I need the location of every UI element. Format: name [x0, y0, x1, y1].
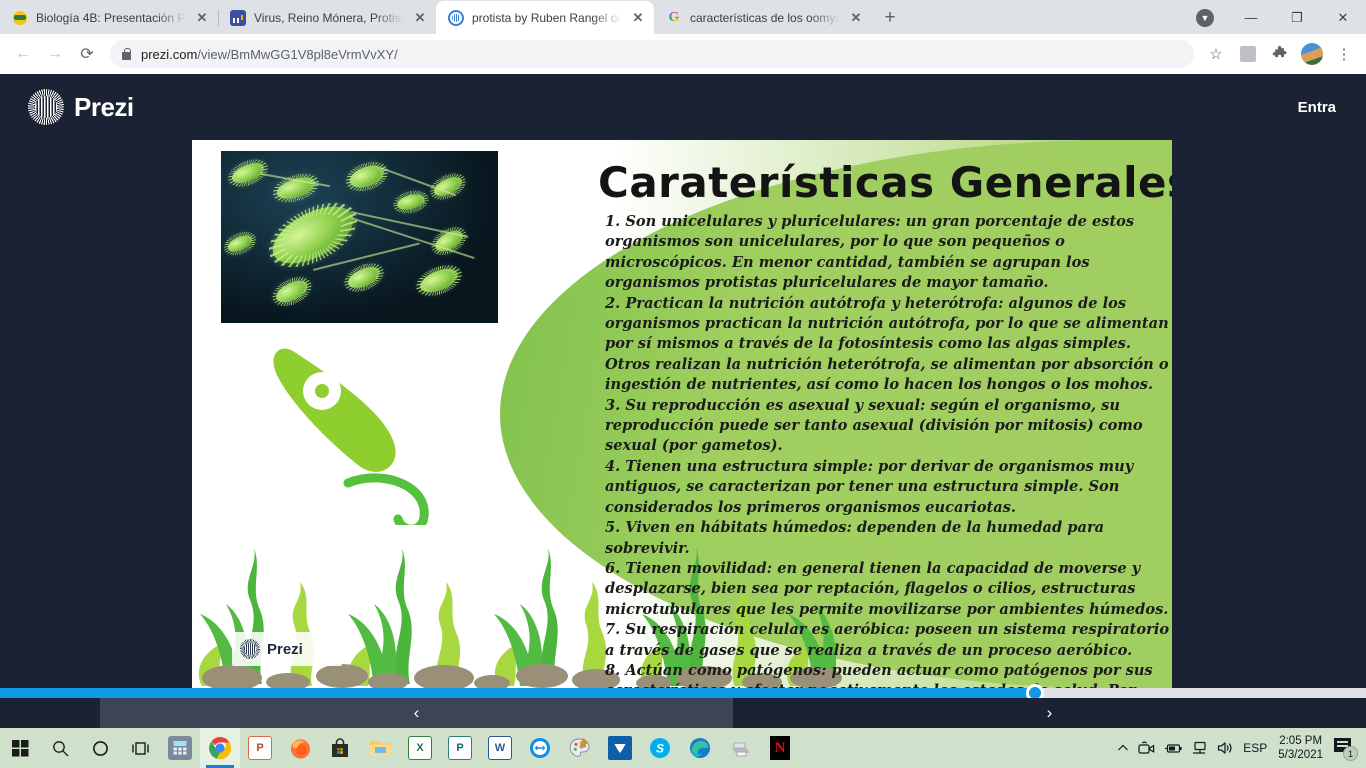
download-indicator-icon[interactable]: ▼	[1182, 1, 1228, 34]
bluebird-app-icon[interactable]	[600, 728, 640, 768]
word-icon[interactable]: W	[480, 728, 520, 768]
forward-button[interactable]: →	[40, 39, 70, 69]
task-view-icon[interactable]	[120, 728, 160, 768]
publisher-icon[interactable]: P	[440, 728, 480, 768]
meet-now-icon[interactable]	[1138, 741, 1155, 756]
slide-paragraph: 1. Son unicelulares y pluricelulares: un…	[605, 212, 1172, 294]
url-domain: prezi.com	[141, 47, 197, 62]
prezi-watermark-text: Prezi	[267, 641, 303, 658]
browser-tab-strip: Biología 4B: Presentación Prezi ✕ Virus,…	[0, 0, 1366, 34]
calculator-icon[interactable]	[160, 728, 200, 768]
toolbar-actions: ☆ ⋮	[1202, 40, 1358, 68]
slide-body-text: 1. Son unicelulares y pluricelulares: un…	[605, 212, 1172, 688]
svg-text:S: S	[656, 742, 664, 756]
presentation-progress-bar[interactable]	[0, 688, 1366, 698]
browser-tab-3[interactable]: G características de los oomycetes ✕	[654, 1, 872, 34]
presentation-stage[interactable]: Prezi Caraterísticas Generales 1. Son un…	[0, 140, 1366, 688]
printer-icon[interactable]	[720, 728, 760, 768]
bars-icon	[230, 10, 246, 26]
tab-title: Virus, Reino Mónera, Protista y Fu	[254, 11, 404, 25]
microsoft-store-icon[interactable]	[320, 728, 360, 768]
slide-canvas: Prezi Caraterísticas Generales 1. Son un…	[192, 140, 1172, 688]
windows-taskbar: P X P W S	[0, 728, 1366, 768]
maximize-button[interactable]: ❐	[1274, 1, 1320, 34]
window-controls: ▼ — ❐ ✕	[1182, 1, 1366, 34]
reload-button[interactable]: ⟳	[72, 39, 102, 69]
prezi-site-header: Prezi Entra	[0, 74, 1366, 140]
powerpoint-icon[interactable]: P	[240, 728, 280, 768]
firefox-icon[interactable]	[280, 728, 320, 768]
bio-icon	[12, 10, 28, 26]
slide-paragraph: 4. Tienen una estructura simple: por der…	[605, 457, 1172, 518]
notifications-icon[interactable]: 1	[1332, 735, 1358, 761]
tab-title: Biología 4B: Presentación Prezi	[36, 11, 186, 25]
volume-icon[interactable]	[1217, 741, 1234, 755]
url-path: /view/BmMwGG1V8pl8eVrmVvXY/	[197, 47, 397, 62]
slide-paragraph: 8. Actúan como patógenos: pueden actuar …	[605, 661, 1172, 688]
battery-icon[interactable]	[1164, 742, 1182, 755]
browser-tab-2[interactable]: protista by Ruben Rangel on Prez ✕	[436, 1, 654, 34]
clock-time: 2:05 PM	[1278, 734, 1323, 748]
slide-title: Caraterísticas Generales	[598, 158, 1172, 207]
cortana-icon[interactable]	[80, 728, 120, 768]
slide-paragraph: 6. Tienen movilidad: en general tienen l…	[605, 559, 1172, 620]
bookmark-star-icon[interactable]: ☆	[1202, 40, 1230, 68]
chrome-menu-icon[interactable]: ⋮	[1330, 40, 1358, 68]
prezi-brand-text: Prezi	[74, 92, 134, 123]
browser-toolbar: ← → ⟳ prezi.com/view/BmMwGG1V8pl8eVrmVvX…	[0, 34, 1366, 74]
slide-paragraph: 2. Practican la nutrición autótrofa y he…	[605, 294, 1172, 396]
progress-fill	[0, 688, 1035, 698]
chrome-icon[interactable]	[200, 728, 240, 768]
browser-tab-0[interactable]: Biología 4B: Presentación Prezi ✕	[0, 1, 218, 34]
start-button[interactable]	[0, 728, 40, 768]
tab-close-icon[interactable]: ✕	[848, 10, 864, 26]
prezi-icon	[448, 10, 464, 26]
slide-paragraph: 5. Viven en hábitats húmedos: dependen d…	[605, 518, 1172, 559]
system-tray: ESP 2:05 PM 5/3/2021 1	[1117, 734, 1366, 762]
presentation-nav-bar: ‹ ›	[0, 698, 1366, 728]
slide-paragraph: 7. Su respiración celular es aeróbica: p…	[605, 620, 1172, 661]
file-explorer-icon[interactable]	[360, 728, 400, 768]
tab-close-icon[interactable]: ✕	[412, 10, 428, 26]
clock-date: 5/3/2021	[1278, 748, 1323, 762]
skype-icon[interactable]: S	[640, 728, 680, 768]
euglena-illustration	[252, 335, 472, 525]
paint-icon[interactable]	[560, 728, 600, 768]
network-icon[interactable]	[1191, 741, 1208, 755]
lock-icon	[122, 52, 131, 60]
close-window-button[interactable]: ✕	[1320, 1, 1366, 34]
edge-icon[interactable]	[680, 728, 720, 768]
netflix-icon[interactable]: N	[760, 728, 800, 768]
back-button[interactable]: ←	[8, 39, 38, 69]
prezi-watermark-icon	[240, 639, 260, 659]
address-bar[interactable]: prezi.com/view/BmMwGG1V8pl8eVrmVvXY/	[110, 40, 1194, 68]
slide-paragraph: 3. Su reproducción es asexual y sexual: …	[605, 396, 1172, 457]
tab-close-icon[interactable]: ✕	[630, 10, 646, 26]
next-slide-button[interactable]: ›	[733, 698, 1366, 728]
clock[interactable]: 2:05 PM 5/3/2021	[1278, 734, 1323, 762]
notification-count-badge: 1	[1343, 746, 1358, 761]
prezi-logo-icon	[28, 89, 64, 125]
excel-icon[interactable]: X	[400, 728, 440, 768]
bacteria-photo	[221, 151, 498, 323]
prezi-watermark[interactable]: Prezi	[232, 632, 342, 666]
login-button[interactable]: Entra	[1298, 99, 1336, 116]
show-hidden-icons-chevron-icon[interactable]	[1117, 742, 1129, 754]
new-tab-button[interactable]: +	[876, 4, 904, 32]
tab-title: protista by Ruben Rangel on Prez	[472, 11, 622, 25]
previous-slide-button[interactable]: ‹	[100, 698, 733, 728]
minimize-button[interactable]: —	[1228, 1, 1274, 34]
language-indicator[interactable]: ESP	[1243, 741, 1267, 755]
tab-title: características de los oomycetes	[690, 11, 840, 25]
puzzle-icon[interactable]	[1266, 40, 1294, 68]
teamviewer-icon[interactable]	[520, 728, 560, 768]
tab-close-icon[interactable]: ✕	[194, 10, 210, 26]
screen: Biología 4B: Presentación Prezi ✕ Virus,…	[0, 0, 1366, 768]
url-text: prezi.com/view/BmMwGG1V8pl8eVrmVvXY/	[141, 47, 398, 62]
google-icon: G	[666, 10, 682, 26]
search-icon[interactable]	[40, 728, 80, 768]
prezi-logo[interactable]: Prezi	[28, 89, 134, 125]
extension-icon[interactable]	[1234, 40, 1262, 68]
browser-tab-1[interactable]: Virus, Reino Mónera, Protista y Fu ✕	[218, 1, 436, 34]
profile-avatar[interactable]	[1298, 40, 1326, 68]
